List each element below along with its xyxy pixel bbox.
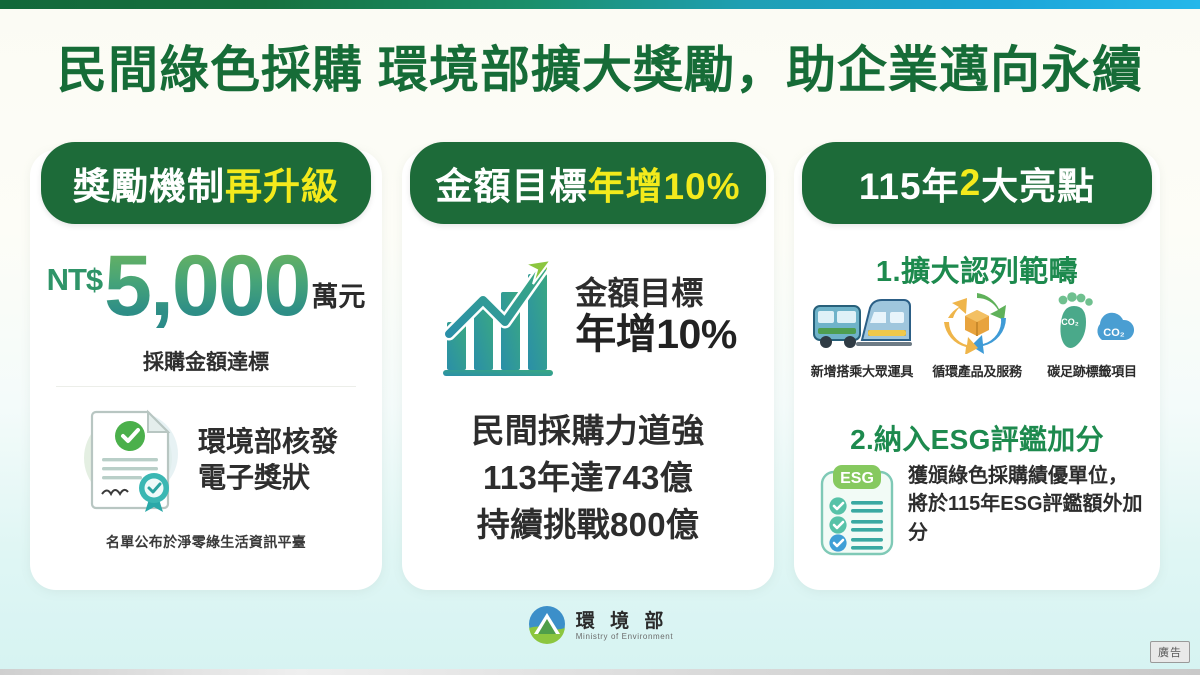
- card-target: 金額目標 年增10%: [402, 150, 774, 590]
- certificate-footnote: 名單公布於淨零綠生活資訊平臺: [30, 532, 382, 552]
- card-divider: [56, 386, 356, 387]
- infographic-stage: 民間綠色採購 環境部擴大獎勵，助企業邁向永續 獎勵機制 再升級 NT$ 5,00…: [0, 0, 1200, 675]
- footer-org: 環 境 部 Ministry of Environment: [576, 612, 673, 642]
- scope-item-caption: 碳足跡標籤項目: [1036, 361, 1148, 380]
- card-highlights-header: 115年 2 大亮點: [802, 142, 1152, 224]
- carbon-footprint-icon: CO₂ CO₂: [1046, 292, 1138, 354]
- amount-unit: 萬元: [311, 275, 365, 314]
- card-target-header: 金額目標 年增10%: [410, 142, 766, 224]
- top-accent-bar: [0, 0, 1200, 9]
- svg-text:CO₂: CO₂: [1061, 317, 1079, 327]
- amount-value: 5,000: [104, 246, 309, 328]
- page-title: 民間綠色採購 環境部擴大獎勵，助企業邁向永續: [0, 30, 1200, 102]
- amount-row: NT$ 5,000 萬元: [30, 246, 382, 328]
- footer: 環 境 部 Ministry of Environment: [0, 604, 1200, 649]
- card-incentive: 獎勵機制 再升級 NT$ 5,000 萬元 採購金額達標: [30, 150, 382, 590]
- certificate-row: 環境部核發 電子獎狀: [30, 396, 382, 523]
- moe-mountain-logo: [527, 604, 567, 649]
- card-highlights-header-suffix: 大亮點: [981, 156, 1095, 210]
- ad-badge: 廣告: [1150, 641, 1190, 663]
- esg-row: ESG 獲頒綠色採購績優單位，將: [816, 462, 1146, 563]
- footer-org-en: Ministry of Environment: [576, 632, 673, 641]
- certificate-line-2: 電子獎狀: [198, 462, 310, 493]
- target-stat-line: 持續挑戰800億: [402, 502, 774, 549]
- target-stats: 民間採購力道強 113年達743億 持續挑戰800億: [402, 408, 774, 549]
- certificate-text: 環境部核發 電子獎狀: [198, 424, 338, 495]
- card-target-header-highlight: 年增10%: [587, 156, 740, 210]
- currency-label: NT$: [47, 262, 103, 298]
- goal-text: 金額目標 年增10%: [575, 275, 737, 359]
- card-incentive-header: 獎勵機制 再升級: [41, 142, 371, 224]
- card-highlights: 115年 2 大亮點 1.擴大認列範疇: [794, 150, 1160, 590]
- scope-item: 循環產品及服務: [921, 292, 1033, 380]
- growth-chart-icon: [439, 248, 565, 385]
- card-incentive-header-highlight: 再升級: [225, 156, 339, 210]
- highlight-2-title: 2.納入ESG評鑑加分: [794, 418, 1160, 458]
- goal-row: 金額目標 年增10%: [402, 248, 774, 385]
- bottom-bar: [0, 669, 1200, 675]
- certificate-icon: [74, 396, 190, 523]
- svg-text:ESG: ESG: [840, 470, 874, 487]
- scope-item-caption: 新增搭乘大眾運具: [806, 361, 918, 380]
- goal-line-2: 年增10%: [575, 312, 737, 358]
- highlight-1-title: 1.擴大認列範疇: [794, 248, 1160, 290]
- card-target-header-label: 金額目標: [435, 156, 587, 210]
- scope-item: CO₂ CO₂ 碳足跡標籤項目: [1036, 292, 1148, 380]
- card-highlights-header-highlight: 2: [960, 162, 982, 204]
- amount-subtitle: 採購金額達標: [30, 346, 382, 376]
- scope-items: 新增搭乘大眾運具 循環產品及服務: [806, 292, 1148, 380]
- certificate-line-1: 環境部核發: [198, 426, 338, 457]
- goal-line-1: 金額目標: [575, 275, 737, 313]
- esg-checklist-icon: ESG: [816, 462, 898, 563]
- cards-container: 獎勵機制 再升級 NT$ 5,000 萬元 採購金額達標: [30, 150, 1180, 590]
- footer-org-zh: 環 境 部: [576, 612, 673, 633]
- svg-text:CO₂: CO₂: [1103, 327, 1125, 339]
- esg-description: 獲頒綠色採購績優單位，將於115年ESG評鑑額外加分: [908, 462, 1146, 547]
- bus-train-icon: [810, 292, 914, 354]
- card-highlights-header-label: 115年: [859, 156, 960, 210]
- scope-item-caption: 循環產品及服務: [921, 361, 1033, 380]
- scope-item: 新增搭乘大眾運具: [806, 292, 918, 380]
- target-stat-line: 113年達743億: [402, 455, 774, 502]
- target-stat-line: 民間採購力道強: [402, 408, 774, 455]
- card-incentive-header-label: 獎勵機制: [73, 156, 225, 210]
- recycle-box-icon: [931, 292, 1023, 354]
